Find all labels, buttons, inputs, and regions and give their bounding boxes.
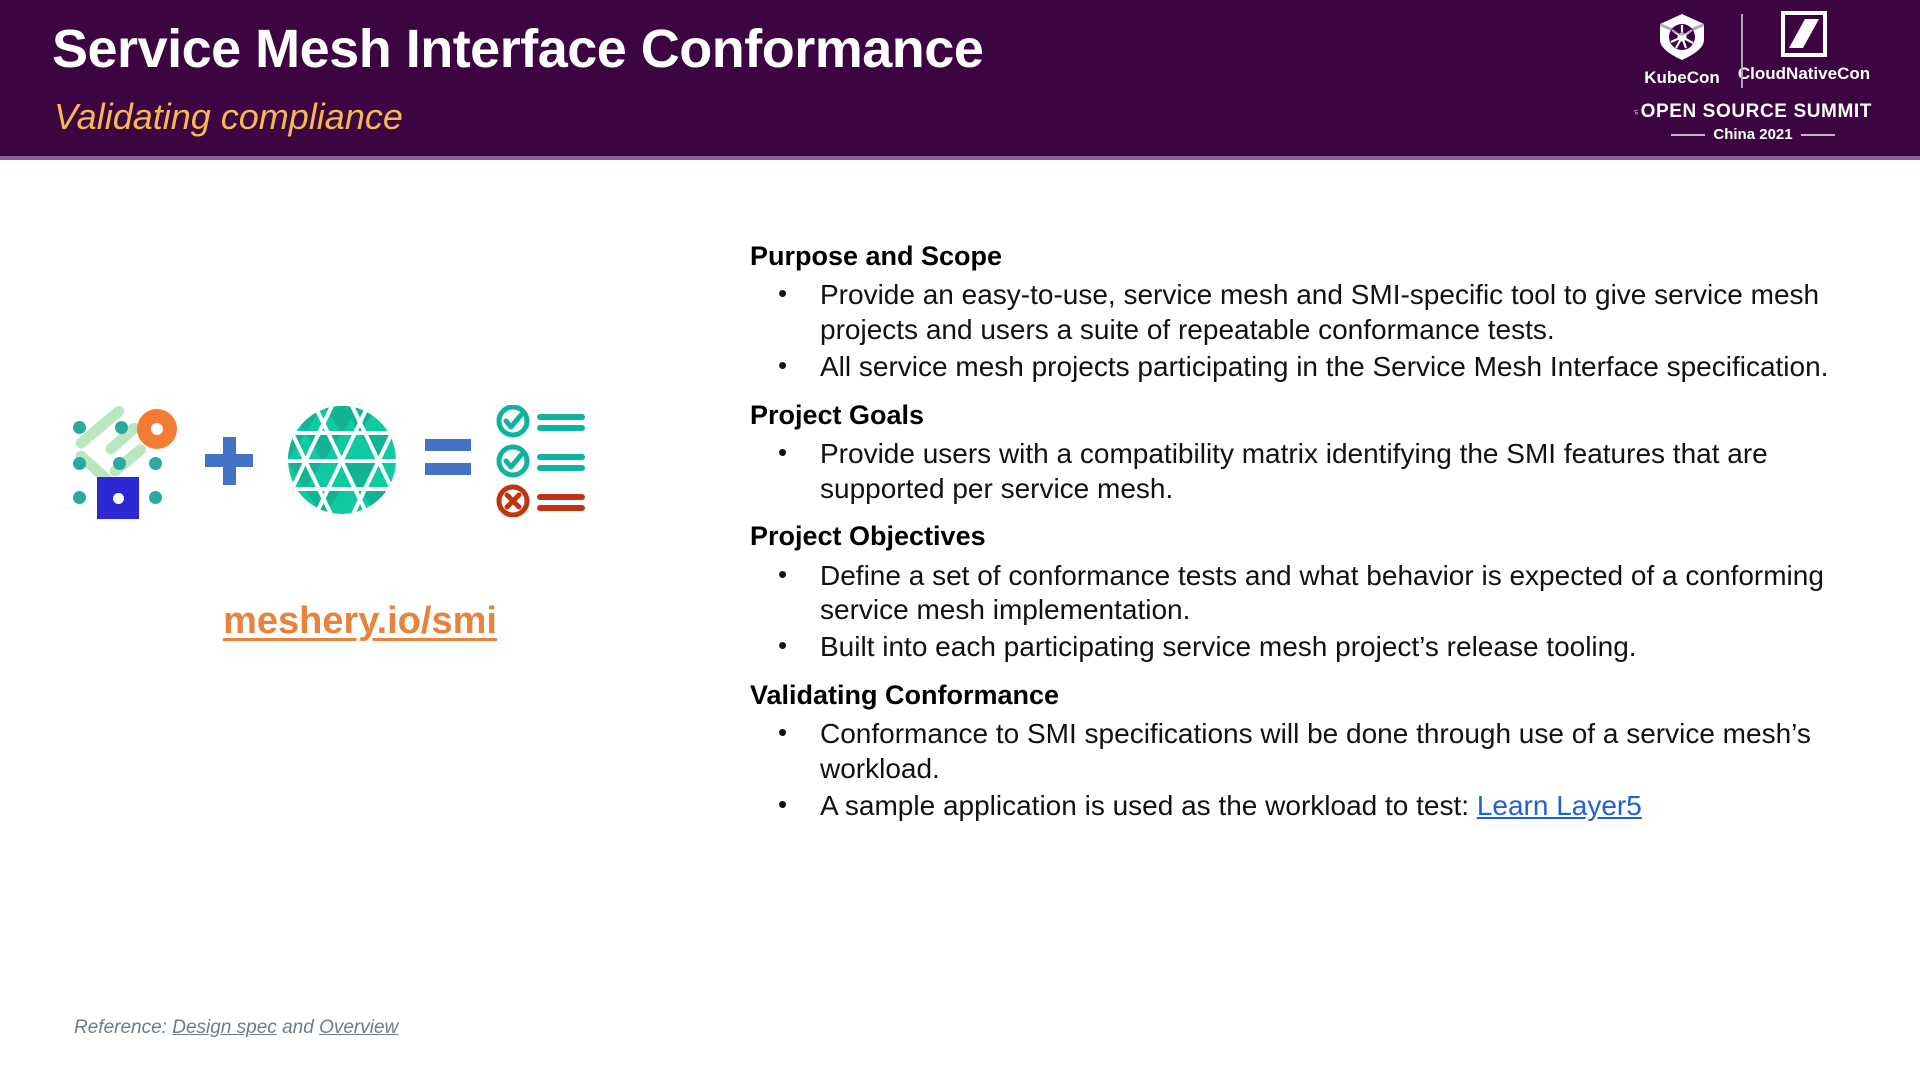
slide-header: Service Mesh Interface Conformance Valid…: [0, 0, 1920, 160]
learn-layer5-link[interactable]: Learn Layer5: [1477, 790, 1642, 821]
section-heading: Project Goals: [750, 399, 1880, 431]
list-item: Built into each participating service me…: [750, 630, 1880, 665]
cloudnativecon-label: CloudNativeCon: [1738, 64, 1870, 84]
list-item-text: A sample application is used as the work…: [820, 790, 1477, 821]
left-panel: meshery.io/smi Reference: Design spec an…: [0, 160, 720, 1080]
list-item: Provide an easy-to-use, service mesh and…: [750, 278, 1880, 347]
oss-s-icon: [1634, 94, 1639, 130]
bullet-list: Provide an easy-to-use, service mesh and…: [750, 278, 1880, 384]
list-item: Define a set of conformance tests and wh…: [750, 559, 1880, 628]
result-row-pass-2: [499, 447, 585, 475]
reference-link-overview[interactable]: Overview: [319, 1017, 398, 1038]
open-source-summit-label: OPEN SOURCE SUMMIT: [1641, 101, 1872, 123]
section-heading: Purpose and Scope: [750, 240, 1880, 272]
list-item: Conformance to SMI specifications will b…: [750, 717, 1880, 786]
bullet-list: Define a set of conformance tests and wh…: [750, 559, 1880, 665]
logo-divider: [1741, 14, 1743, 88]
kubecon-block: KubeCon: [1626, 10, 1738, 88]
section-heading: Project Objectives: [750, 520, 1880, 552]
cncf-square-icon: [1779, 10, 1829, 62]
bullet-list: Provide users with a compatibility matri…: [750, 437, 1880, 506]
reference-conjunction: and: [282, 1017, 314, 1038]
page-title: Service Mesh Interface Conformance: [52, 18, 983, 80]
location-year-row: China 2021: [1634, 126, 1872, 143]
page-subtitle: Validating compliance: [54, 96, 403, 138]
equation-illustration: [55, 395, 655, 535]
section-heading: Validating Conformance: [750, 679, 1880, 711]
reference-prefix: Reference:: [74, 1017, 167, 1038]
section-project-objectives: Project Objectives Define a set of confo…: [750, 520, 1880, 665]
result-row-fail: [499, 487, 585, 515]
conformance-results-icon: [495, 405, 595, 515]
meshery-logo-icon: [55, 403, 160, 513]
location-year-label: China 2021: [1713, 126, 1792, 143]
section-purpose-and-scope: Purpose and Scope Provide an easy-to-use…: [750, 240, 1880, 385]
plus-symbol: [205, 437, 253, 485]
equals-symbol: [425, 439, 471, 477]
list-item: A sample application is used as the work…: [750, 789, 1880, 824]
result-row-pass-1: [499, 407, 585, 435]
rule-left: [1671, 134, 1705, 136]
content-column: Purpose and Scope Provide an easy-to-use…: [750, 240, 1880, 825]
bullet-list: Conformance to SMI specifications will b…: [750, 717, 1880, 823]
list-item: All service mesh projects participating …: [750, 350, 1880, 385]
rule-right: [1801, 134, 1835, 136]
meshery-smi-link[interactable]: meshery.io/smi: [0, 600, 720, 643]
service-mesh-sphere-icon: [287, 405, 397, 520]
reference-footnote: Reference: Design spec and Overview: [74, 1017, 398, 1039]
cloudnativecon-block: CloudNativeCon: [1738, 10, 1870, 84]
logo-top-row: KubeCon CloudNativeCon: [1626, 10, 1872, 92]
kubecon-label: KubeCon: [1644, 68, 1720, 88]
section-validating-conformance: Validating Conformance Conformance to SM…: [750, 679, 1880, 824]
conference-logo: KubeCon CloudNativeCon OPEN SOURCE SUMMI…: [1626, 8, 1872, 148]
reference-link-design-spec[interactable]: Design spec: [172, 1017, 277, 1038]
list-item: Provide users with a compatibility matri…: [750, 437, 1880, 506]
section-project-goals: Project Goals Provide users with a compa…: [750, 399, 1880, 507]
open-source-summit-row: OPEN SOURCE SUMMIT: [1634, 94, 1872, 130]
kubernetes-helm-icon: [1652, 10, 1712, 66]
